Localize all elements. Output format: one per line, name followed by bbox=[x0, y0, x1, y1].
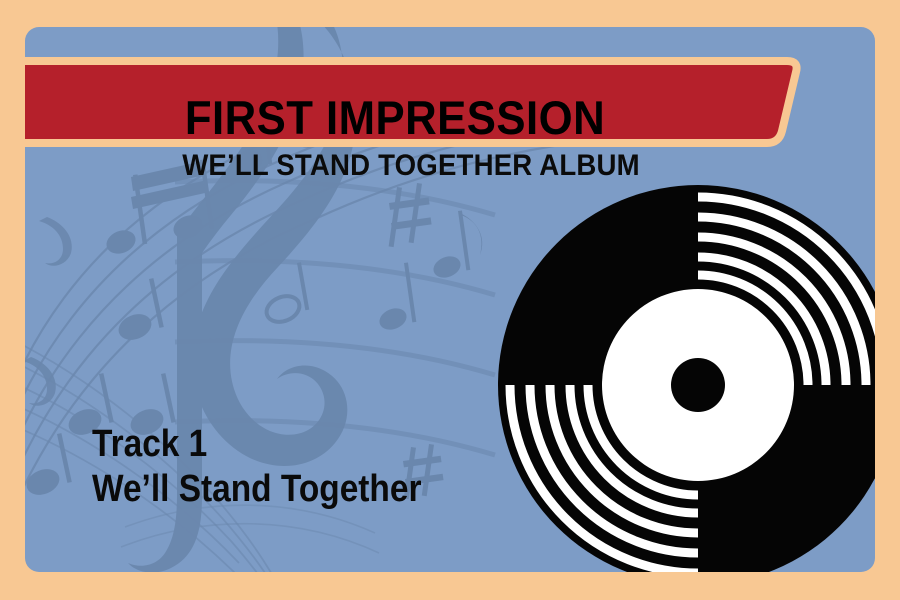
record-label bbox=[602, 289, 794, 481]
track-title: We’ll Stand Together bbox=[92, 467, 421, 512]
track-info: Track 1 We’ll Stand Together bbox=[92, 422, 466, 512]
poster-inner-panel: FIRST IMPRESSION WE’LL STAND TOGETHER AL… bbox=[25, 27, 875, 572]
music-staff-icon bbox=[121, 505, 379, 553]
record-center-hole bbox=[671, 358, 725, 412]
title-banner: FIRST IMPRESSION bbox=[25, 57, 822, 143]
music-note-icon bbox=[263, 292, 304, 327]
music-note-icon bbox=[376, 210, 482, 333]
sharp-sign-icon bbox=[389, 183, 432, 247]
music-note-icon bbox=[297, 262, 309, 310]
album-subtitle: WE’LL STAND TOGETHER ALBUM bbox=[56, 145, 766, 187]
track-number: Track 1 bbox=[92, 422, 421, 467]
music-note-icon bbox=[25, 217, 72, 406]
music-staff-icon bbox=[175, 181, 495, 455]
page-title: FIRST IMPRESSION bbox=[51, 87, 739, 147]
album-poster: FIRST IMPRESSION WE’LL STAND TOGETHER AL… bbox=[0, 0, 900, 600]
record-body bbox=[498, 185, 875, 572]
